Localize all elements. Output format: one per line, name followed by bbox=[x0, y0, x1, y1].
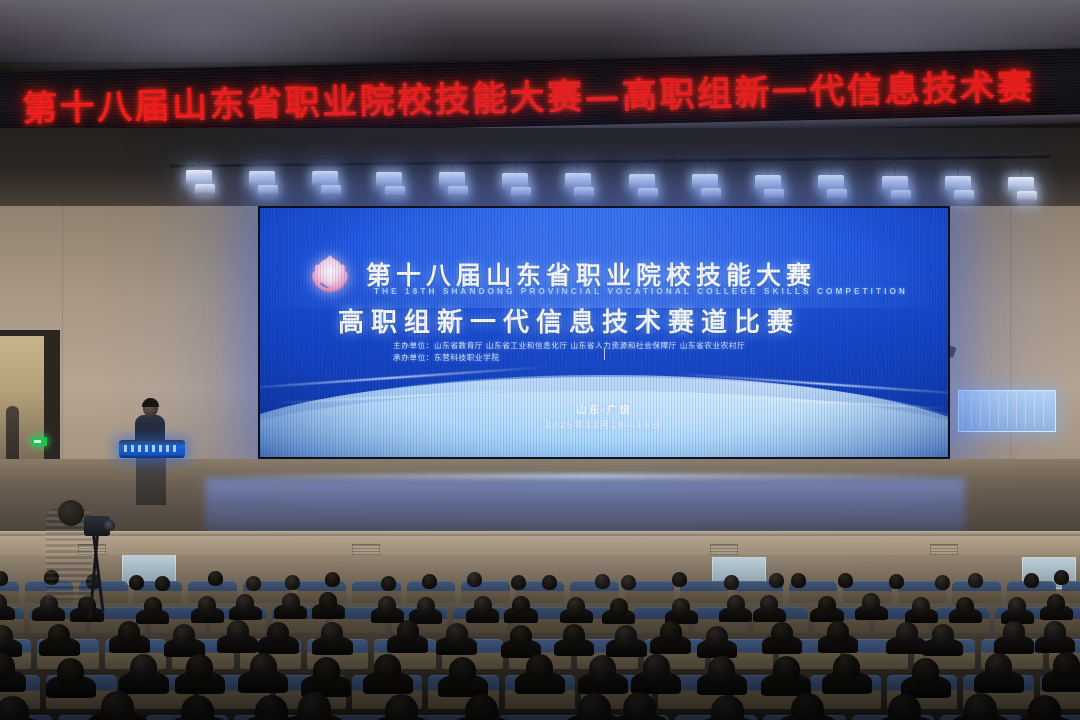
audience-head bbox=[727, 595, 745, 613]
audience-head bbox=[130, 654, 157, 681]
audience-head bbox=[563, 624, 585, 646]
audience-head bbox=[1054, 570, 1069, 585]
audience-head bbox=[912, 597, 930, 615]
camera-operator-head bbox=[58, 500, 84, 526]
stage-light-lower bbox=[827, 189, 847, 200]
audience-head bbox=[833, 654, 860, 681]
audience-head bbox=[118, 621, 140, 643]
audience-head bbox=[896, 622, 918, 644]
flame-lotus-emblem bbox=[308, 252, 352, 296]
audience-head bbox=[862, 593, 880, 611]
audience-head bbox=[321, 622, 343, 644]
audience-head bbox=[771, 622, 793, 644]
screen-organizers-line: 主办单位：山东省教育厅 山东省工业和信息化厅 山东省人力资源和社会保障厅 山东省… bbox=[393, 340, 745, 351]
audience-head bbox=[1044, 621, 1066, 643]
audience-head bbox=[250, 653, 277, 680]
audience-head bbox=[1008, 597, 1026, 615]
audience-head bbox=[467, 572, 482, 587]
audience-head bbox=[621, 575, 636, 590]
audience-head bbox=[1003, 621, 1025, 643]
speaker-podium bbox=[119, 440, 185, 458]
seated-audience bbox=[0, 555, 1080, 720]
audience-head bbox=[285, 575, 300, 590]
audience-head bbox=[526, 654, 553, 681]
audience-head bbox=[378, 596, 396, 614]
stage-light bbox=[692, 174, 718, 189]
stage-light-lower bbox=[891, 190, 911, 201]
audience-head bbox=[589, 655, 616, 682]
audience-head bbox=[643, 654, 670, 681]
audience-head bbox=[932, 624, 954, 646]
screen-title-secondary: 高职组新一代信息技术赛道比赛 bbox=[338, 302, 800, 339]
audience-head bbox=[129, 575, 144, 590]
audience-head bbox=[567, 597, 585, 615]
audience-head bbox=[101, 691, 134, 720]
audience-head bbox=[935, 575, 950, 590]
stage-light-lower bbox=[638, 188, 658, 199]
stage-light-lower bbox=[511, 187, 531, 198]
audience-head bbox=[773, 656, 800, 683]
audience-head bbox=[889, 574, 904, 589]
audience-head bbox=[374, 654, 401, 681]
audience-head bbox=[144, 597, 162, 615]
stage-light-lower bbox=[574, 187, 594, 198]
audience-head bbox=[313, 657, 340, 684]
stage-light-lower bbox=[195, 184, 215, 195]
emergency-exit-sign bbox=[32, 437, 47, 446]
audience-head bbox=[827, 621, 849, 643]
audience-head bbox=[465, 694, 498, 720]
screen-location-text: 山东·广饶 bbox=[260, 402, 948, 417]
audience-head bbox=[267, 622, 289, 644]
stage-light-lower bbox=[764, 189, 784, 200]
audience-head bbox=[474, 596, 492, 614]
audience-head bbox=[446, 623, 468, 645]
person-in-doorway bbox=[6, 406, 19, 464]
audience-head bbox=[325, 572, 340, 587]
audience-head bbox=[198, 596, 216, 614]
podium-base bbox=[136, 455, 166, 505]
led-stage-screen: 第十八届山东省职业院校技能大赛 THE 18TH SHANDONG PROVIN… bbox=[260, 208, 948, 457]
screen-text-cursor bbox=[604, 348, 605, 360]
audience-head bbox=[956, 597, 974, 615]
audience-head bbox=[208, 571, 223, 586]
audience-head bbox=[985, 653, 1012, 680]
stage-light bbox=[1008, 177, 1034, 192]
stage-light bbox=[502, 173, 528, 188]
audience-head bbox=[417, 597, 435, 615]
audience-head bbox=[706, 626, 728, 648]
audience-head bbox=[791, 573, 806, 588]
audience-head bbox=[449, 657, 476, 684]
stage-light-lower bbox=[1017, 191, 1037, 202]
audience-head bbox=[510, 625, 532, 647]
stage-light bbox=[565, 173, 591, 188]
audience-head bbox=[186, 654, 213, 681]
audience-head bbox=[791, 693, 824, 720]
ceiling-soffit bbox=[0, 128, 1080, 206]
audience-head bbox=[282, 593, 300, 611]
screen-date-text: 2025年12月18—19日 bbox=[260, 418, 948, 431]
audience-head bbox=[912, 658, 939, 685]
stage-light-lower bbox=[954, 190, 974, 201]
audience-head bbox=[385, 694, 418, 720]
screen-host-line: 承办单位：东营科技职业学院 bbox=[393, 352, 500, 363]
audience-head bbox=[724, 575, 739, 590]
audience-head bbox=[672, 572, 687, 587]
audience-head bbox=[623, 692, 656, 720]
audience-head bbox=[227, 620, 249, 642]
audience-head bbox=[615, 625, 637, 647]
audience-head bbox=[542, 575, 557, 590]
stage-light bbox=[882, 176, 908, 191]
stage-light-lower bbox=[448, 186, 468, 197]
audience-head bbox=[381, 576, 396, 591]
stage-light bbox=[439, 172, 465, 187]
audience-head bbox=[1053, 652, 1080, 679]
stage-light bbox=[945, 176, 971, 191]
audience-head bbox=[511, 575, 526, 590]
audience-head bbox=[578, 693, 611, 720]
stage-light-lower bbox=[701, 188, 721, 199]
audience-head bbox=[711, 695, 744, 720]
stage-light-lower bbox=[258, 185, 278, 196]
screen-subtitle-english: THE 18TH SHANDONG PROVINCIAL VOCATIONAL … bbox=[374, 287, 908, 296]
audience-head bbox=[512, 596, 530, 614]
audience-head bbox=[48, 624, 70, 646]
stage-light-lower bbox=[321, 185, 341, 196]
audience-head bbox=[595, 574, 610, 589]
stage-light-lower bbox=[385, 186, 405, 197]
audience-head bbox=[968, 573, 983, 588]
audience-head bbox=[173, 624, 195, 646]
audience-head bbox=[708, 656, 735, 683]
stage-light bbox=[629, 174, 655, 189]
audience-head bbox=[397, 620, 419, 642]
audience-head bbox=[236, 594, 254, 612]
audience-head bbox=[1024, 573, 1039, 588]
illuminated-wall-panel bbox=[958, 390, 1056, 432]
audience-head bbox=[769, 573, 784, 588]
wall-seam-a bbox=[62, 206, 63, 462]
auditorium-scene-photo: 第十八届山东省职业院校技能大赛—高职组新一代信息技术赛 bbox=[0, 0, 1080, 720]
audience-head bbox=[319, 592, 337, 610]
audience-head bbox=[422, 574, 437, 589]
audience-head bbox=[246, 576, 261, 591]
camera-lens bbox=[104, 520, 115, 531]
audience-head bbox=[760, 595, 778, 613]
stage-light bbox=[186, 170, 212, 185]
audience-head bbox=[610, 598, 628, 616]
audience-head bbox=[672, 598, 690, 616]
stage-light bbox=[755, 175, 781, 190]
audience-head bbox=[57, 658, 84, 685]
audience-head bbox=[155, 576, 170, 591]
stage-light bbox=[376, 172, 402, 187]
stage-light bbox=[818, 175, 844, 190]
audience-head bbox=[298, 692, 331, 720]
stage-light bbox=[312, 171, 338, 186]
audience-head bbox=[818, 596, 836, 614]
stage-light bbox=[249, 171, 275, 186]
audience-head bbox=[1047, 594, 1065, 612]
audience-head bbox=[838, 573, 853, 588]
audience-head bbox=[660, 621, 682, 643]
